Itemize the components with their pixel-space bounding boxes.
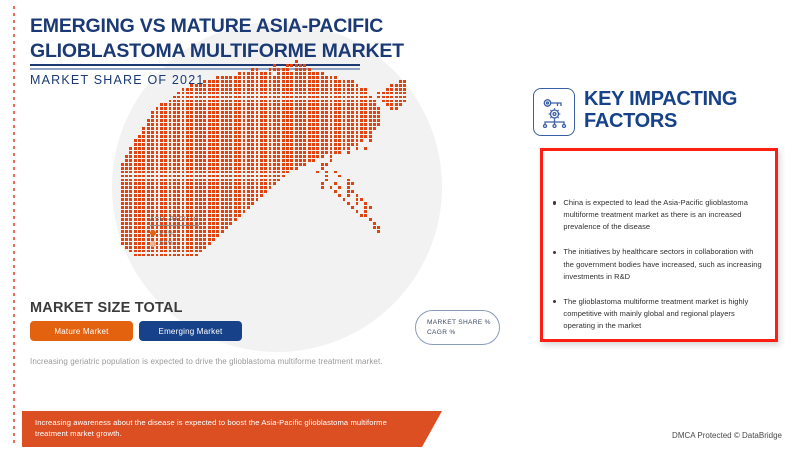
list-item: The glioblastoma multiforme treatment ma… [553,296,763,332]
market-size-legend: Mature Market Emerging Market [30,321,242,341]
key-factors-title: KEY IMPACTING FACTORS [584,88,800,132]
cagr-label: CAGR % [427,329,499,336]
list-item-text: The initiatives by healthcare sectors in… [563,246,763,282]
mature-market-chip[interactable]: Mature Market [30,321,133,341]
legend-swatch-secondary [150,241,156,247]
legend-value: XX% [159,240,174,247]
key-factors-card: China is expected to lead the Asia-Pacif… [540,148,778,342]
orange-banner: Increasing awareness about the disease i… [22,411,422,447]
key-gear-network-icon [533,88,575,136]
legend-swatch-primary [150,230,156,236]
legend-item: XX% [150,240,199,247]
bullet-icon [553,201,556,204]
list-item: China is expected to lead the Asia-Pacif… [553,197,763,233]
emerging-market-chip[interactable]: Emerging Market [139,321,242,341]
asia-pacific-dot-map [112,60,472,310]
legend-title: ASIA-PACIFIC [150,216,199,226]
market-size-total-title: MARKET SIZE TOTAL [30,300,183,316]
left-dotted-rail [13,6,15,444]
key-factors-header: KEY IMPACTING FACTORS [533,88,800,136]
list-item: The initiatives by healthcare sectors in… [553,246,763,282]
infographic-canvas: EMERGING VS MATURE ASIA-PACIFIC GLIOBLAS… [0,0,800,450]
bullet-icon [553,251,556,254]
footer-attribution: DMCA Protected © DataBridge [672,431,782,440]
list-item-text: China is expected to lead the Asia-Pacif… [563,197,763,233]
page-title: EMERGING VS MATURE ASIA-PACIFIC GLIOBLAS… [30,14,510,64]
legend-item: XX% [150,230,199,237]
chart-caption: Increasing geriatric population is expec… [30,357,383,366]
map-legend: ASIA-PACIFIC XX% XX% [150,208,199,247]
key-factors-list: China is expected to lead the Asia-Pacif… [553,197,763,345]
banner-text: Increasing awareness about the disease i… [35,417,403,440]
market-share-cagr-badge: MARKET SHARE % CAGR % [415,310,500,345]
bullet-icon [553,300,556,303]
market-share-label: MARKET SHARE % [427,319,499,326]
legend-value: XX% [159,230,174,237]
list-item-text: The glioblastoma multiforme treatment ma… [563,296,763,332]
